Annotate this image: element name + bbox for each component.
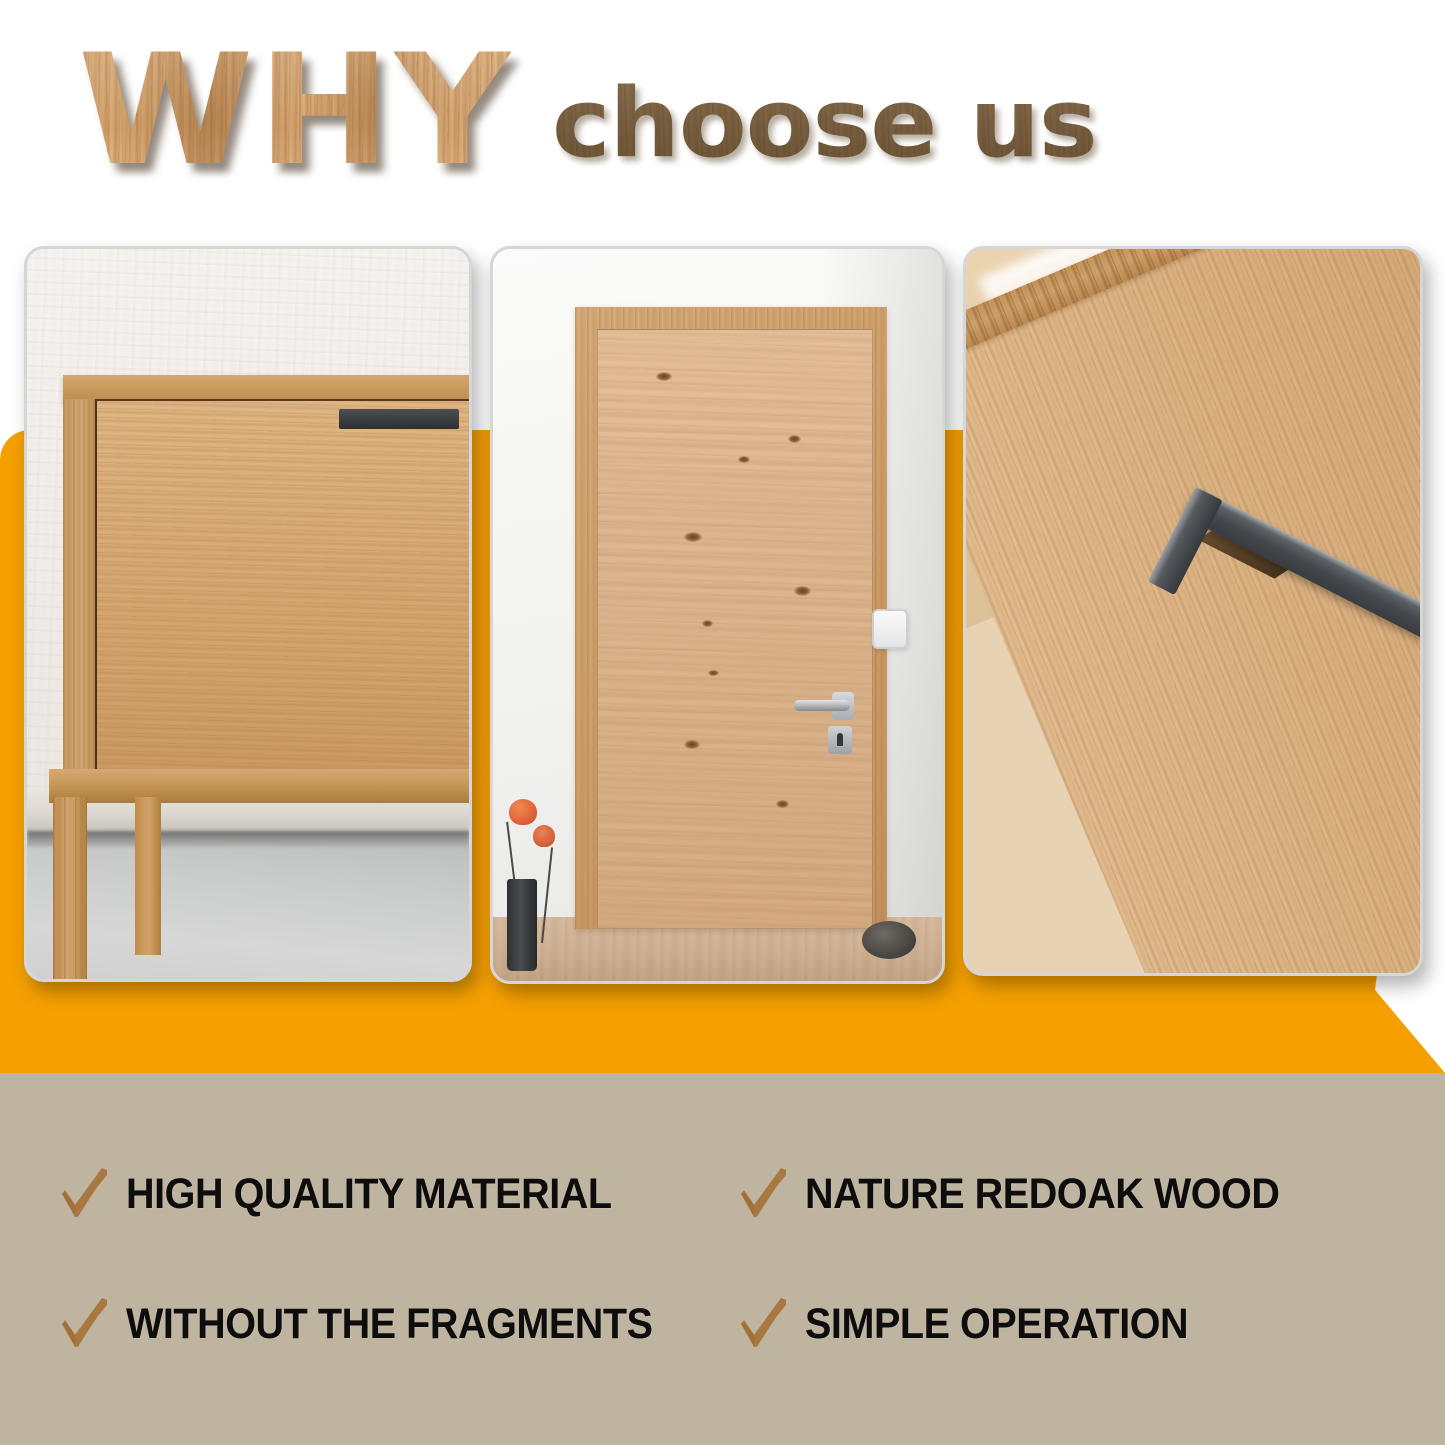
wood-knot	[684, 740, 700, 749]
cabinet-leg-front	[53, 797, 87, 979]
cabinet-side-panel	[63, 399, 97, 777]
photo-gallery	[0, 0, 1445, 1075]
feature-list: HIGH QUALITY MATERIAL NATURE REDOAK WOOD	[0, 1073, 1445, 1445]
photo-card-wood-edge-macro[interactable]	[963, 246, 1423, 976]
feature-label: HIGH QUALITY MATERIAL	[126, 1173, 612, 1216]
why-choose-us-poster: WHY choose us	[0, 0, 1445, 1445]
wood-knot	[656, 372, 672, 381]
poppy-stem	[541, 847, 553, 943]
feature-item-without-the-fragments: WITHOUT THE FRAGMENTS	[58, 1259, 727, 1389]
cabinet-door-panel	[63, 399, 469, 777]
wood-knot	[702, 620, 713, 627]
door-frame	[575, 307, 887, 929]
cabinet-leg-back	[135, 797, 161, 955]
feature-label: SIMPLE OPERATION	[805, 1303, 1188, 1346]
check-icon	[58, 1164, 110, 1224]
cabinet-bar-handle	[339, 409, 459, 429]
wood-knot	[788, 435, 801, 443]
check-icon	[737, 1164, 789, 1224]
decor-stone	[862, 921, 916, 959]
light-switch	[872, 609, 908, 649]
check-icon	[58, 1294, 110, 1354]
wood-edge-macro-photo	[966, 249, 1420, 973]
concrete-floor	[27, 831, 469, 979]
feature-label: WITHOUT THE FRAGMENTS	[126, 1303, 653, 1346]
feature-item-high-quality-material: HIGH QUALITY MATERIAL	[58, 1129, 727, 1259]
door-lever-handle	[794, 700, 850, 711]
photo-card-oak-sideboard[interactable]	[24, 246, 472, 982]
check-icon	[737, 1294, 789, 1354]
wood-knot	[794, 586, 811, 596]
door-lock-icon	[828, 726, 852, 754]
poppy-bloom	[533, 825, 555, 847]
oak-sideboard-photo	[27, 249, 469, 979]
feature-item-simple-operation: SIMPLE OPERATION	[737, 1259, 1406, 1389]
feature-item-nature-redoak-wood: NATURE REDOAK WOOD	[737, 1129, 1406, 1259]
feature-label: NATURE REDOAK WOOD	[805, 1173, 1279, 1216]
wood-knot	[738, 456, 750, 463]
poppy-bloom	[509, 799, 537, 825]
oak-door-photo	[493, 249, 942, 981]
photo-card-oak-door[interactable]	[490, 246, 945, 984]
wood-knot	[776, 800, 789, 808]
wood-knot	[708, 670, 719, 676]
cabinet-base-rail	[49, 769, 469, 803]
oak-door-panel	[597, 329, 873, 929]
wood-knot	[684, 532, 702, 542]
dark-vase	[507, 879, 537, 971]
